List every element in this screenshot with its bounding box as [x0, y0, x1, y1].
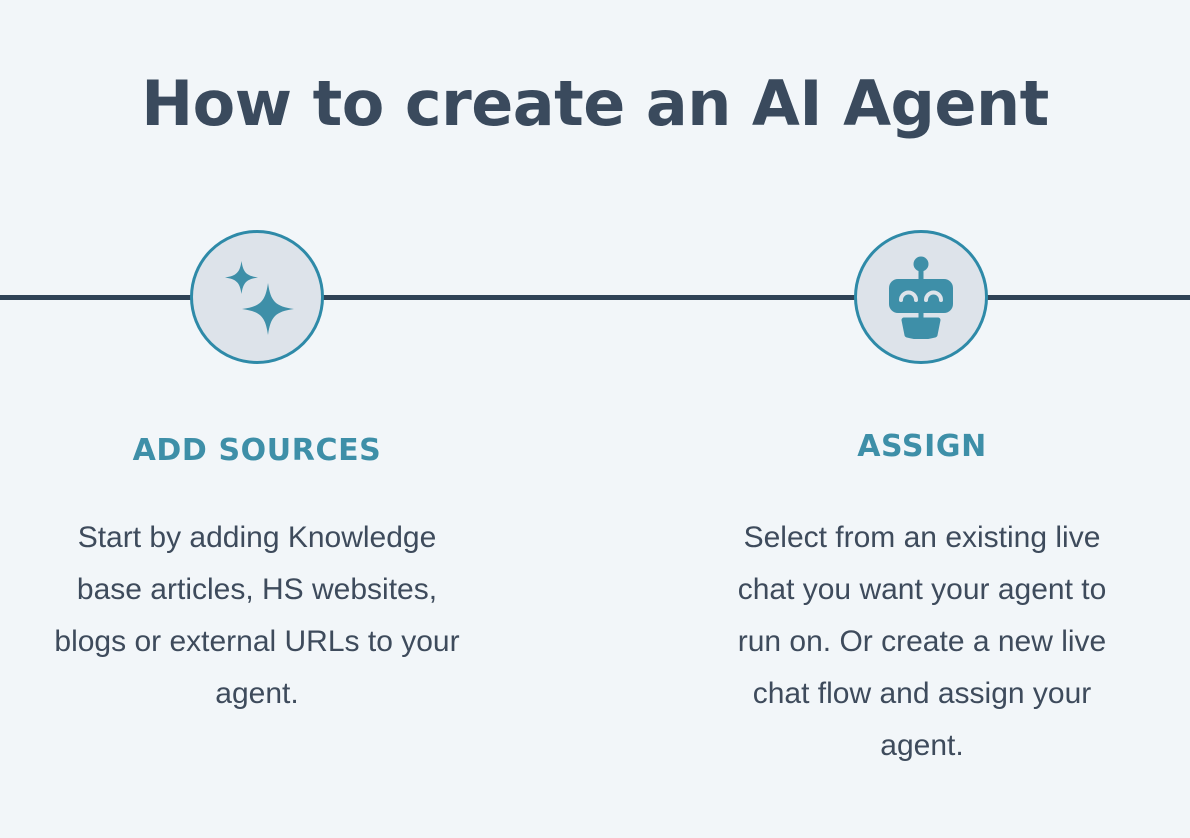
step-2-heading: ASSIGN [712, 428, 1132, 466]
step-2-text-block: ASSIGN Select from an existing live chat… [712, 428, 1132, 772]
step-1-heading: ADD SOURCES [47, 432, 467, 470]
step-2-icon-circle [854, 230, 988, 364]
page-title: How to create an AI Agent [0, 64, 1190, 144]
step-1-description: Start by adding Knowledge base articles,… [47, 470, 467, 720]
step-1-text-block: ADD SOURCES Start by adding Knowledge ba… [47, 432, 467, 720]
step-2-description: Select from an existing live chat you wa… [712, 466, 1132, 772]
step-1-icon-circle [190, 230, 324, 364]
sparkles-icon [216, 256, 298, 338]
timeline-connector-line [0, 295, 1190, 300]
robot-icon [883, 255, 959, 339]
